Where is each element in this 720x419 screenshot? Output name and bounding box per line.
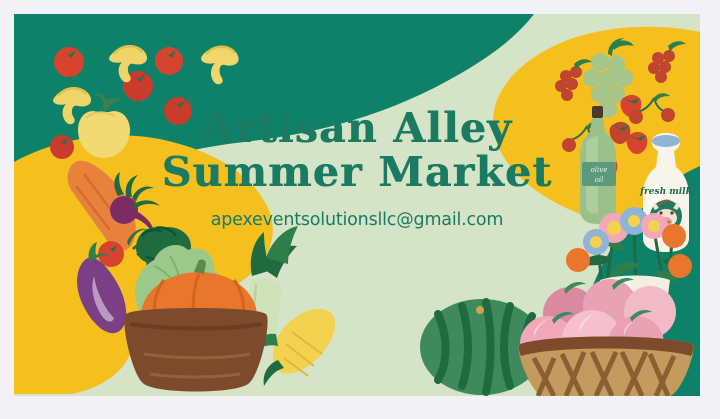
bottom-right-group (14, 14, 700, 396)
screenshot-stage: olive oil fresh milk (0, 0, 720, 419)
event-flyer-card: olive oil fresh milk (14, 14, 700, 396)
woven-basket-icon (519, 337, 694, 397)
